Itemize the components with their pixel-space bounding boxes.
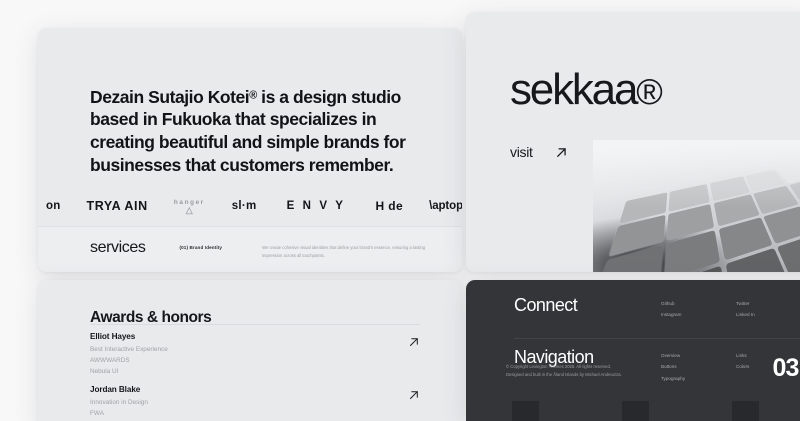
award-name: Jordan Blake	[90, 385, 420, 394]
client-logo-slim[interactable]: sl·m	[232, 200, 257, 212]
footer-link-github[interactable]: Github	[661, 298, 736, 309]
footer-clock: 03:50 Helsinki	[773, 356, 800, 388]
brand-wordmark: sekkaa®	[510, 68, 662, 112]
footer-link-linkedin[interactable]: Linked In	[736, 309, 800, 320]
awards-panel: Awards & honors Elliot Hayes Best Intera…	[38, 280, 462, 421]
award-name: Elliot Hayes	[90, 332, 420, 341]
client-logo-laptop[interactable]: \aptop	[429, 200, 462, 212]
hero-statement: Dezain Sutajio Kotei® is a design studio…	[90, 86, 420, 177]
registered-mark-icon: ®	[249, 89, 257, 101]
service-item-label: (01) Brand Identity	[179, 245, 222, 250]
brand-wordmark-text: sekkaa	[510, 65, 636, 114]
client-logo-tryaain[interactable]: TRYA AIN	[86, 199, 147, 213]
registered-mark-icon: ®	[636, 71, 662, 112]
footer-legal: © Copyright Lexington Themes 2025. All r…	[506, 363, 622, 379]
credit-line: Designed and built in the Åland Islands …	[506, 371, 622, 379]
award-list-item[interactable]: Elliot Hayes Best Interactive Experience…	[90, 332, 420, 377]
divider	[514, 338, 800, 339]
screenshot-stage: Dezain Sutajio Kotei® is a design studio…	[0, 0, 800, 421]
footer-link-columns: Github Instagram Twitter Linked In	[661, 298, 800, 321]
arrow-up-right-icon[interactable]	[408, 388, 420, 400]
clock-time: 03:50	[773, 356, 800, 381]
visit-link[interactable]: visit	[510, 144, 568, 160]
footer-link-twitter[interactable]: Twitter	[736, 298, 800, 309]
services-bar: services (01) Brand Identity We create c…	[38, 226, 462, 272]
award-category: Innovation in Design	[90, 397, 420, 408]
divider	[90, 324, 420, 325]
footer-link-overview[interactable]: Overview	[661, 350, 736, 361]
services-title: services	[90, 239, 145, 257]
client-logo-envy[interactable]: E N V Y	[287, 200, 346, 212]
arrow-up-right-icon[interactable]	[408, 335, 420, 347]
footer-link-column: Overview Buttons Typography	[661, 350, 736, 384]
award-category: Best Interactive Experience	[90, 344, 420, 355]
client-logo-strip: on TRYA AIN hanger △ sl·m E N V Y H de \…	[38, 186, 462, 226]
hanger-icon: △	[174, 207, 205, 214]
copyright-line: © Copyright Lexington Themes 2025. All r…	[506, 363, 622, 371]
hero-panel: Dezain Sutajio Kotei® is a design studio…	[38, 28, 462, 272]
footer-link-column: Github Instagram	[661, 298, 736, 321]
footer-panel: Connect Github Instagram Twitter Linked …	[466, 280, 800, 421]
client-logo-on[interactable]: on	[46, 200, 60, 212]
decorative-square	[512, 401, 539, 421]
footer-link-buttons[interactable]: Buttons	[661, 361, 736, 372]
visit-label: visit	[510, 144, 533, 160]
keyboard-keys	[593, 157, 800, 272]
award-list-item[interactable]: Jordan Blake Innovation in Design FWA Vo…	[90, 385, 420, 421]
footer-section-connect: Connect Github Instagram Twitter Linked …	[514, 296, 800, 314]
clock-location: Helsinki	[773, 384, 800, 388]
footer-link-instagram[interactable]: Instagram	[661, 309, 736, 320]
footer-link-typography[interactable]: Typography	[661, 373, 736, 384]
award-project: Nebula UI	[90, 366, 420, 377]
decorative-square	[732, 401, 759, 421]
client-logo-hanger[interactable]: hanger △	[174, 199, 205, 214]
client-logo-hde[interactable]: H de	[376, 199, 404, 213]
service-item-description: We create cohesive visual identities tha…	[262, 244, 437, 260]
footer-decorative-squares	[466, 395, 800, 421]
hero-statement-prefix: Dezain Sutajio Kotei	[90, 87, 249, 107]
footer-link-column: Twitter Linked In	[736, 298, 800, 321]
award-organization: AWWWARDS	[90, 355, 420, 366]
decorative-square	[622, 401, 649, 421]
keyboard-photo	[593, 140, 800, 272]
arrow-up-right-icon	[555, 146, 568, 159]
brand-panel: sekkaa® visit	[466, 12, 800, 272]
award-organization: FWA	[90, 408, 420, 419]
